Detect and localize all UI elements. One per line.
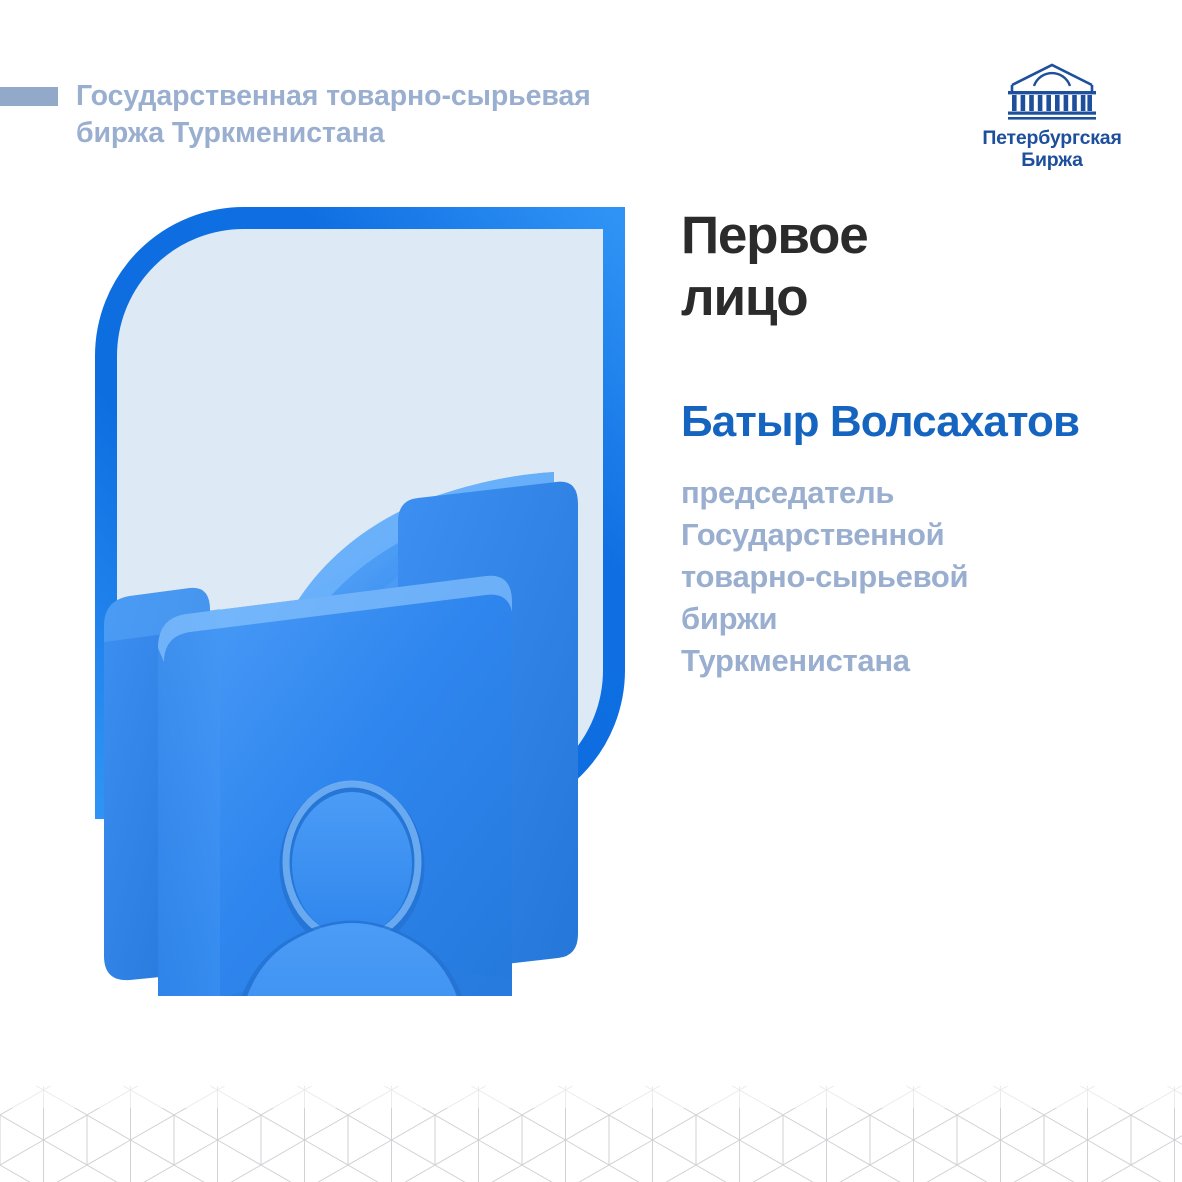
organization-title: Государственная товарно-сырьевая биржа Т… <box>76 78 591 152</box>
person-name: Батыр Волсахатов <box>681 397 1121 446</box>
classical-building-icon <box>1006 60 1098 122</box>
logo: Петербургская Биржа <box>964 60 1140 172</box>
isometric-cube-lattice-icon <box>0 1086 1182 1182</box>
content-column: Первое лицо Батыр Волсахатов председател… <box>681 205 1121 681</box>
poster-canvas: Государственная товарно-сырьевая биржа Т… <box>0 0 1182 1182</box>
accent-dash-icon <box>0 87 58 106</box>
illustration-graphic <box>84 196 644 996</box>
illustration <box>84 196 644 996</box>
section-eyebrow: Первое лицо <box>681 205 1121 329</box>
header: Государственная товарно-сырьевая биржа Т… <box>0 78 700 152</box>
bottom-pattern <box>0 1086 1182 1182</box>
logo-name: Петербургская Биржа <box>964 128 1140 172</box>
person-role: председатель Государственной товарно-сыр… <box>681 472 1121 681</box>
